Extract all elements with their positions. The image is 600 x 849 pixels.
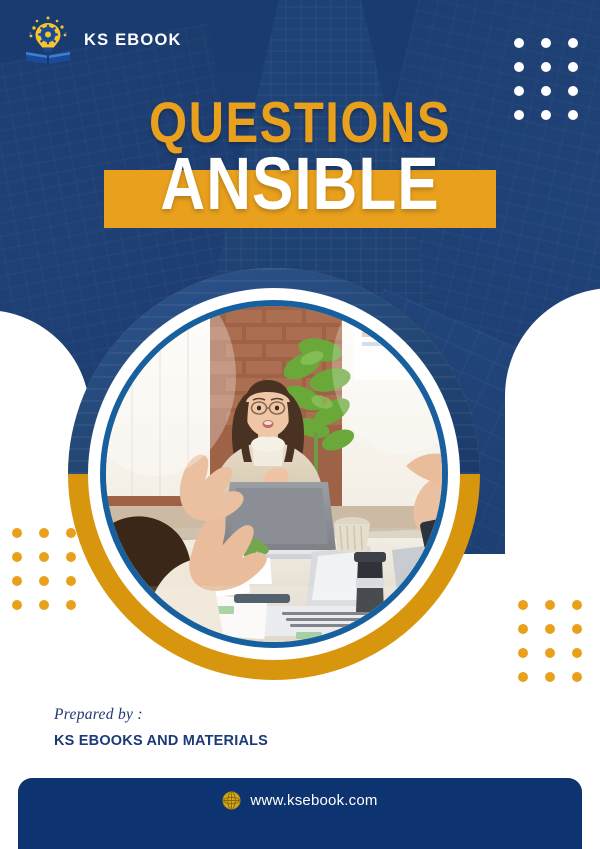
dot [514, 38, 524, 48]
dot [518, 672, 528, 682]
dot [572, 672, 582, 682]
footer-url[interactable]: www.ksebook.com [250, 792, 377, 809]
brand-logo: KS EBOOK [22, 14, 182, 66]
dot [12, 552, 22, 562]
dot-grid-bottom-left [12, 528, 76, 610]
dot [12, 528, 22, 538]
business-meeting-illustration [106, 306, 442, 642]
dot [541, 38, 551, 48]
dot [12, 600, 22, 610]
prepared-by-author: KS EBOOKS AND MATERIALS [54, 733, 268, 749]
dot [545, 624, 555, 634]
dot [545, 672, 555, 682]
dot-grid-top-right [514, 38, 578, 120]
lightbulb-gear-book-icon [22, 14, 74, 66]
prepared-by-label: Prepared by : [54, 706, 268, 724]
dot [572, 648, 582, 658]
dot [518, 624, 528, 634]
dot [66, 552, 76, 562]
dot [572, 600, 582, 610]
globe-icon [222, 791, 241, 810]
dot [12, 576, 22, 586]
dot [66, 576, 76, 586]
dot [39, 600, 49, 610]
dot [66, 600, 76, 610]
dot-grid-bottom-right [518, 600, 582, 682]
footer-bar: www.ksebook.com [18, 778, 582, 849]
dot [518, 600, 528, 610]
ebook-cover: KS EBOOK QUESTIONS ANSIBLE [0, 0, 600, 849]
dot [568, 110, 578, 120]
footer-content: www.ksebook.com [222, 791, 377, 810]
dot [514, 62, 524, 72]
dot [518, 648, 528, 658]
dot [541, 110, 551, 120]
dot [39, 576, 49, 586]
title-line-ansible: ANSIBLE [0, 148, 600, 222]
hero-photo [106, 306, 442, 642]
dot [541, 62, 551, 72]
dot [568, 86, 578, 96]
dot [572, 624, 582, 634]
dot [39, 552, 49, 562]
dot [568, 38, 578, 48]
dot [66, 528, 76, 538]
dot [545, 648, 555, 658]
dot [545, 600, 555, 610]
dot [514, 110, 524, 120]
dot [541, 86, 551, 96]
brand-name: KS EBOOK [84, 31, 182, 50]
prepared-by-block: Prepared by : KS EBOOKS AND MATERIALS [54, 706, 268, 749]
dot [514, 86, 524, 96]
dot [39, 528, 49, 538]
dot [568, 62, 578, 72]
